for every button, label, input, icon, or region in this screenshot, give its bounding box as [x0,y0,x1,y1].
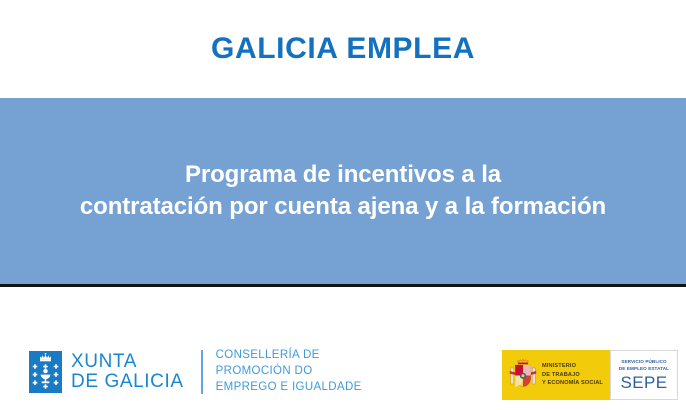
sepe-wordmark: SEPE [621,374,668,391]
sepe-subtitle: SERVICIO PÚBLICO DE EMPLEO ESTATAL [619,359,669,372]
xunta-de-galicia-logo: XUNTA DE GALICIA CONSELLERÍA DE PROMOCIÓ… [29,348,362,396]
ministerio-panel: MINISTERIO DE TRABAJO Y ECONOMÍA SOCIAL [502,350,610,400]
xunta-wordmark-line-1: XUNTA [71,352,184,372]
ministerio-line-1: MINISTERIO [542,362,603,370]
xunta-wordmark: XUNTA DE GALICIA [71,352,184,392]
page-title: GALICIA EMPLEA [211,34,475,64]
ministerio-line-2: DE TRABAJO [542,371,603,379]
footer-logo-bar: XUNTA DE GALICIA CONSELLERÍA DE PROMOCIÓ… [0,287,686,410]
xunta-wordmark-line-2: DE GALICIA [71,372,184,392]
banner-line-2: contratación por cuenta ajena y a la for… [80,191,606,223]
xunta-coat-of-arms-icon [29,351,62,393]
title-zone: GALICIA EMPLEA [0,0,686,98]
ministerio-label: MINISTERIO DE TRABAJO Y ECONOMÍA SOCIAL [542,362,603,387]
logo-divider [201,350,203,394]
program-banner: Programa de incentivos a la contratación… [0,98,686,284]
ministerio-line-3: Y ECONOMÍA SOCIAL [542,379,603,387]
conselleria-line-1: CONSELLERÍA DE [216,348,362,364]
banner-text-block: Programa de incentivos a la contratación… [68,159,618,223]
conselleria-line-2: PROMOCIÓN DO [216,364,362,380]
sepe-subtitle-line-1: SERVICIO PÚBLICO [619,359,669,366]
sepe-subtitle-line-2: DE EMPLEO ESTATAL [619,366,669,373]
sepe-panel: SERVICIO PÚBLICO DE EMPLEO ESTATAL SEPE [610,350,678,400]
banner-line-1: Programa de incentivos a la [80,159,606,191]
conselleria-label: CONSELLERÍA DE PROMOCIÓN DO EMPREGO E IG… [216,348,362,396]
gobierno-sepe-logo: MINISTERIO DE TRABAJO Y ECONOMÍA SOCIAL … [502,350,678,400]
spain-coat-of-arms-icon [509,358,537,392]
conselleria-line-3: EMPREGO E IGUALDADE [216,380,362,396]
